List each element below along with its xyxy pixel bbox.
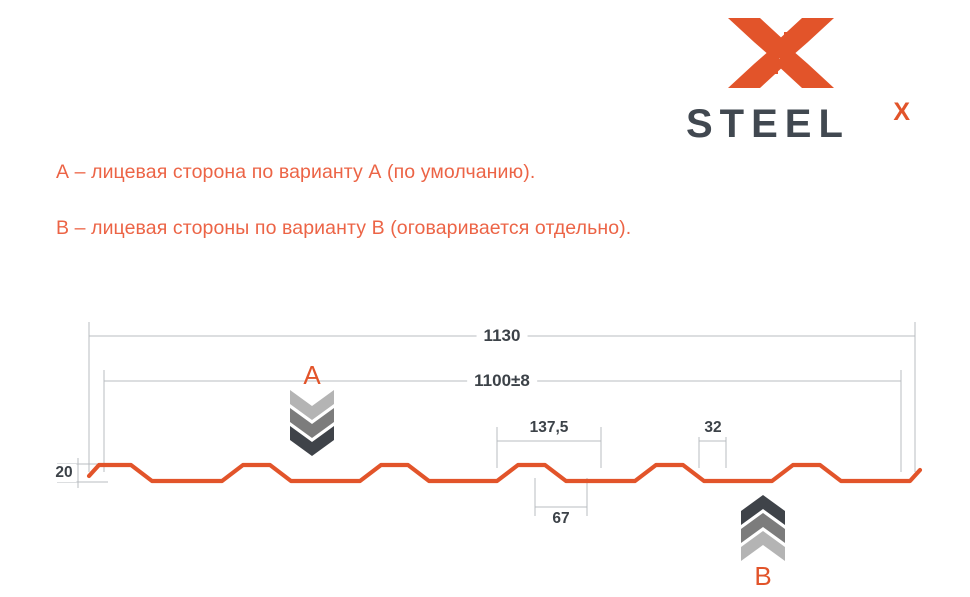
dim-label-working-width: 1100±8 [467,371,537,391]
dim-label-valley-width: 67 [545,510,576,528]
sheet-profile-line [89,465,920,481]
side-b-chevrons-icon [735,493,791,563]
dim-label-overall-width: 1130 [477,326,528,346]
drawing-page: STEEL X А – лицевая сторона по варианту … [0,0,970,597]
profile-cross-section-drawing [0,0,970,597]
side-a-letter: А [277,362,347,388]
dim-label-profile-height: 20 [51,464,76,482]
side-a-chevrons-icon [284,388,340,458]
side-a-marker: А [277,362,347,458]
side-b-letter: В [728,563,798,589]
dim-label-crest-width: 32 [697,419,728,437]
dim-label-rib-pitch: 137,5 [523,419,576,437]
side-b-marker: В [728,493,798,589]
